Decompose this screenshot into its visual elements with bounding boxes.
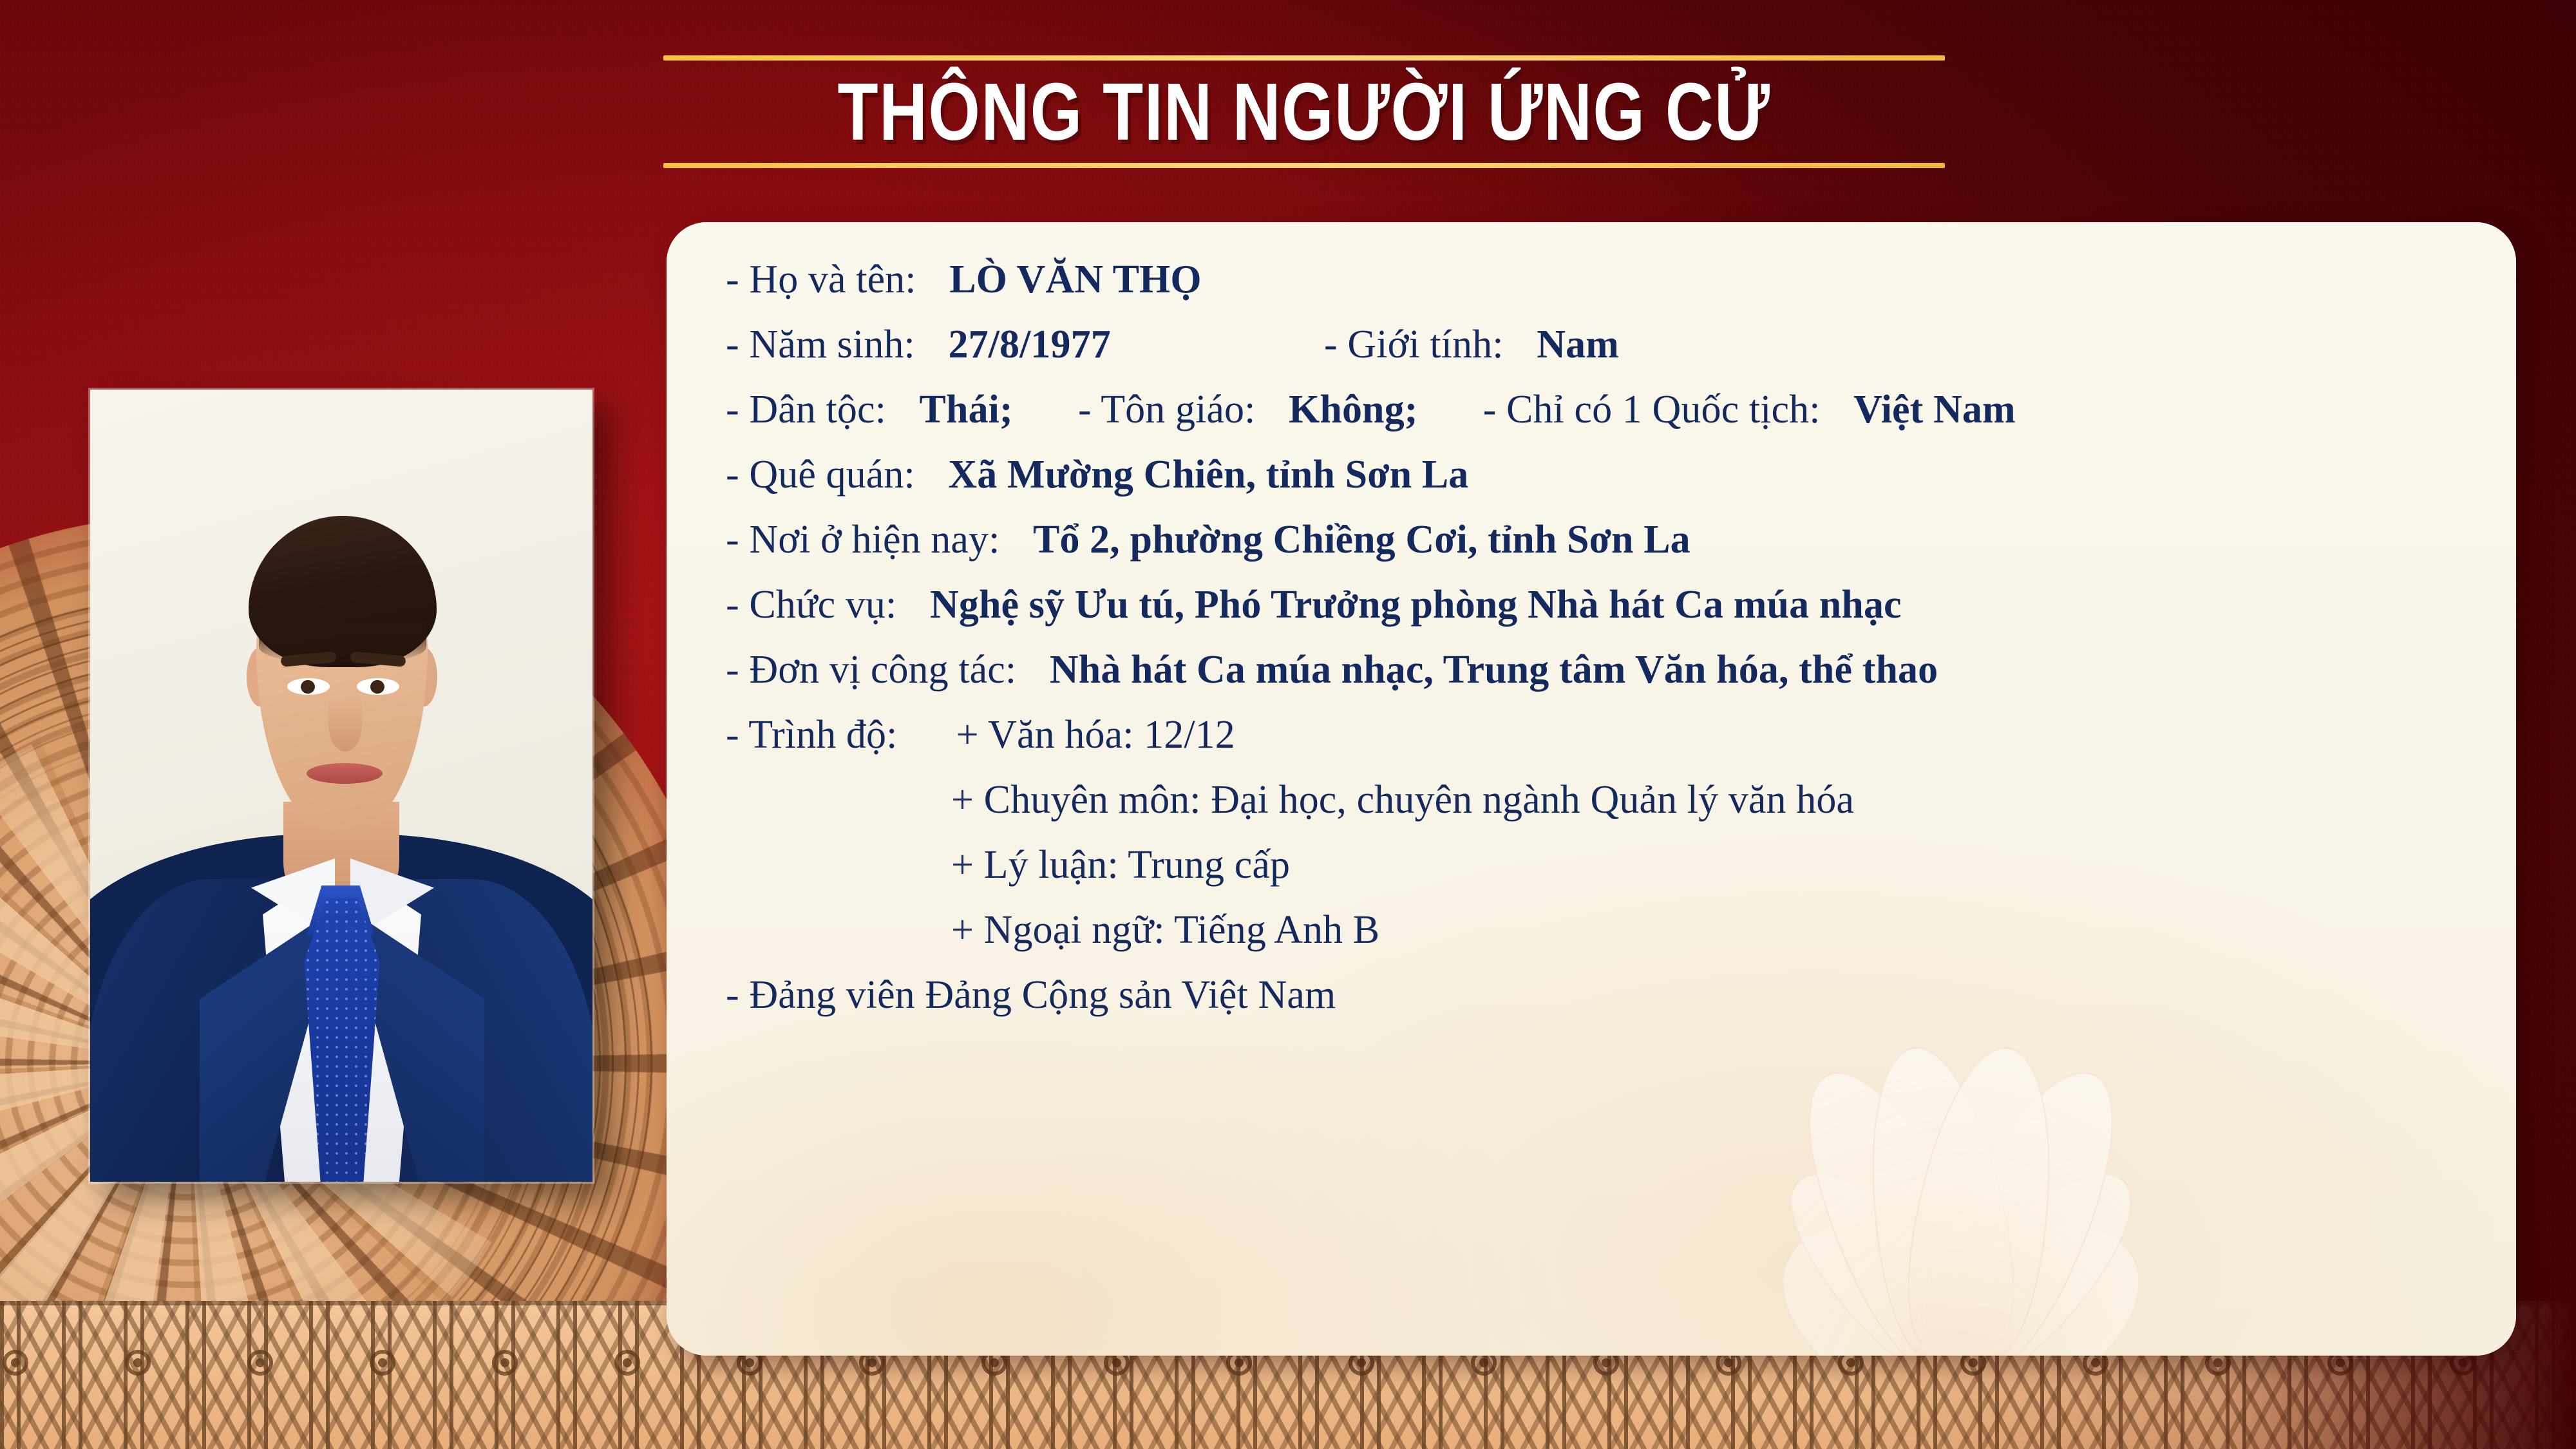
slide-root: THÔNG TIN NGƯỜI ỨNG CỬ - Họ và tên: LÒ V… [0, 0, 2576, 1449]
value-nationality: Việt Nam [1853, 388, 2016, 431]
row-ethnicity-religion-nationality: - Dân tộc: Thái; - Tôn giáo: Không; - Ch… [726, 377, 2490, 442]
row-education-general: - Trình độ: + Văn hóa: 12/12 [726, 702, 2490, 767]
value-hometown: Xã Mường Chiên, tỉnh Sơn La [948, 453, 1468, 497]
row-residence: - Nơi ở hiện nay: Tổ 2, phường Chiềng Cơ… [726, 507, 2490, 572]
photo-eye-right [357, 678, 399, 695]
row-position: - Chức vụ: Nghệ sỹ Ưu tú, Phó Trưởng phò… [726, 572, 2490, 637]
page-title: THÔNG TIN NGƯỜI ỨNG CỬ [779, 61, 1830, 163]
label-residence: - Nơi ở hiện nay: [726, 518, 999, 562]
label-nationality: - Chỉ có 1 Quốc tịch: [1483, 388, 1821, 431]
photo-mouth [307, 763, 383, 784]
label-position: - Chức vụ: [726, 583, 896, 627]
row-birth-and-gender: - Năm sinh: 27/8/1977 - Giới tính: Nam [726, 312, 2490, 377]
row-full-name: - Họ và tên: LÒ VĂN THỌ [726, 247, 2490, 312]
candidate-info-card: - Họ và tên: LÒ VĂN THỌ - Năm sinh: 27/8… [667, 222, 2516, 1356]
value-party-membership: - Đảng viên Đảng Cộng sản Việt Nam [726, 973, 1336, 1017]
row-hometown: - Quê quán: Xã Mường Chiên, tỉnh Sơn La [726, 442, 2490, 507]
candidate-photo [90, 390, 592, 1182]
row-education-theory: + Lý luận: Trung cấp [726, 832, 2490, 897]
photo-eye-left [287, 678, 330, 695]
row-education-language: + Ngoại ngữ: Tiếng Anh B [726, 897, 2490, 962]
value-education-major: + Chuyên môn: Đại học, chuyên ngành Quản… [951, 778, 1854, 822]
label-religion: - Tôn giáo: [1078, 388, 1255, 431]
value-workplace: Nhà hát Ca múa nhạc, Trung tâm Văn hóa, … [1050, 648, 1938, 692]
label-ethnicity: - Dân tộc: [726, 388, 886, 431]
value-ethnicity: Thái; [920, 388, 1013, 431]
label-education: - Trình độ: [726, 713, 897, 757]
label-hometown: - Quê quán: [726, 453, 915, 497]
label-birth-year: - Năm sinh: [726, 323, 915, 366]
label-full-name: - Họ và tên: [726, 258, 916, 301]
label-workplace: - Đơn vị công tác: [726, 648, 1016, 692]
label-gender: - Giới tính: [1324, 323, 1504, 366]
page-title-block: THÔNG TIN NGƯỜI ỨNG CỬ [663, 55, 1945, 168]
value-education-theory: + Lý luận: Trung cấp [951, 843, 1290, 887]
value-gender: Nam [1537, 323, 1619, 366]
title-rule-top [663, 55, 1945, 61]
value-religion: Không; [1289, 388, 1417, 431]
row-education-major: + Chuyên môn: Đại học, chuyên ngành Quản… [726, 767, 2490, 832]
value-full-name: LÒ VĂN THỌ [949, 258, 1201, 301]
value-birth-year: 27/8/1977 [948, 323, 1110, 366]
title-rule-bottom [663, 163, 1945, 168]
photo-nose [328, 697, 362, 752]
row-party-membership: - Đảng viên Đảng Cộng sản Việt Nam [726, 962, 2490, 1027]
value-education-general: + Văn hóa: 12/12 [956, 713, 1235, 757]
info-rows: - Họ và tên: LÒ VĂN THỌ - Năm sinh: 27/8… [726, 247, 2490, 1027]
value-position: Nghệ sỹ Ưu tú, Phó Trưởng phòng Nhà hát … [930, 583, 1902, 627]
value-residence: Tổ 2, phường Chiềng Cơi, tỉnh Sơn La [1033, 518, 1690, 562]
row-workplace: - Đơn vị công tác: Nhà hát Ca múa nhạc, … [726, 637, 2490, 702]
value-education-language: + Ngoại ngữ: Tiếng Anh B [951, 908, 1379, 952]
